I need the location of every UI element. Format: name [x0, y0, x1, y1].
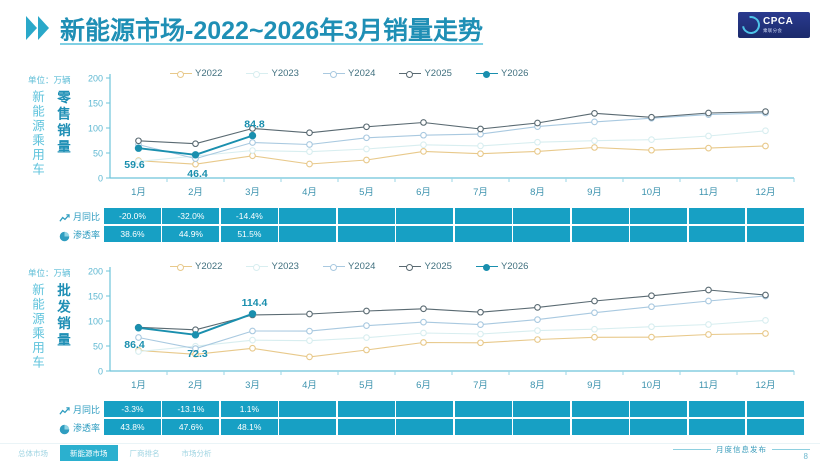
svg-text:4月: 4月 [302, 187, 317, 198]
wholesale-chart: 0501001502001月2月3月4月5月6月7月8月9月10月11月12月8… [78, 259, 804, 399]
table-row-header: 渗透率 [40, 226, 104, 242]
table-cell [338, 401, 395, 417]
pie-chart-icon [59, 422, 70, 433]
svg-text:200: 200 [88, 266, 103, 276]
svg-text:12月: 12月 [755, 187, 775, 198]
pie-chart-icon [59, 229, 70, 240]
table-cell: 43.8% [104, 419, 161, 435]
table-cell: 48.1% [221, 419, 278, 435]
svg-text:46.4: 46.4 [187, 168, 208, 180]
svg-text:8月: 8月 [530, 187, 545, 198]
table-cell [630, 401, 687, 417]
table-row: 渗透率38.6%44.9%51.5% [40, 226, 804, 242]
table-cell [747, 401, 804, 417]
table-cell [396, 401, 453, 417]
svg-text:3月: 3月 [245, 187, 260, 198]
table-cell: -32.0% [162, 208, 219, 224]
table-cell [279, 226, 336, 242]
vehicle-category-label-wholesale: 新能源乘用车 [26, 283, 44, 370]
table-row-label: 渗透率 [73, 421, 100, 434]
svg-text:6月: 6月 [416, 187, 431, 198]
table-cell: -13.1% [162, 401, 219, 417]
table-cell [747, 419, 804, 435]
svg-text:10月: 10月 [641, 380, 661, 391]
svg-text:100: 100 [88, 123, 103, 133]
chevron-double-right-icon [26, 16, 49, 40]
logo-main-text: CPCA [763, 17, 793, 27]
svg-text:1月: 1月 [131, 187, 146, 198]
table-cell [279, 401, 336, 417]
table-cell [689, 226, 746, 242]
table-cell [279, 208, 336, 224]
table-cell: 38.6% [104, 226, 161, 242]
footer-brand: 月度信息发布 [673, 444, 810, 455]
page-title: 新能源市场-2022~2026年3月销量走势 [60, 11, 483, 47]
table-cell [396, 226, 453, 242]
footer-brand-text: 月度信息发布 [716, 444, 767, 455]
svg-text:2月: 2月 [188, 187, 203, 198]
cpca-swirl-icon [738, 12, 763, 37]
cpca-logo: CPCA 乘联分会 [738, 12, 810, 38]
table-cell [747, 226, 804, 242]
table-cell [338, 419, 395, 435]
svg-text:11月: 11月 [699, 380, 718, 391]
svg-text:50: 50 [93, 148, 103, 158]
svg-text:9月: 9月 [587, 187, 602, 198]
retail-chart: 0501001502001月2月3月4月5月6月7月8月9月10月11月12月5… [78, 66, 804, 206]
table-cell [747, 208, 804, 224]
svg-text:150: 150 [88, 291, 103, 301]
footer-tab-4[interactable]: 市场分析 [172, 445, 222, 461]
rule-right-icon [772, 449, 810, 450]
svg-text:7月: 7月 [473, 187, 488, 198]
table-row-header: 月同比 [40, 401, 104, 417]
trend-line-icon [59, 404, 70, 415]
table-cell [513, 226, 570, 242]
table-cell [279, 419, 336, 435]
retail-data-table: 月同比-20.0%-32.0%-14.4%渗透率38.6%44.9%51.5% [40, 208, 804, 244]
svg-text:72.3: 72.3 [187, 348, 208, 360]
logo-sub-text: 乘联分会 [763, 29, 793, 34]
svg-text:5月: 5月 [359, 380, 374, 391]
wholesale-data-table: 月同比-3.3%-13.1%1.1%渗透率43.8%47.6%48.1% [40, 401, 804, 437]
table-cell [513, 401, 570, 417]
footer-tab-3[interactable]: 厂商排名 [120, 445, 170, 461]
table-cell: 44.9% [162, 226, 219, 242]
svg-text:12月: 12月 [755, 380, 775, 391]
table-row-label: 月同比 [73, 210, 100, 223]
svg-text:150: 150 [88, 98, 103, 108]
trend-line-icon [59, 211, 70, 222]
wholesale-panel: 单位：万辆 新能源乘用车 批发销量 Y2022Y2023Y2024Y2025Y2… [0, 255, 820, 445]
table-cell [513, 419, 570, 435]
footer-tab-1[interactable]: 总体市场 [8, 445, 58, 461]
table-row-header: 渗透率 [40, 419, 104, 435]
table-cell: -3.3% [104, 401, 161, 417]
svg-text:8月: 8月 [530, 380, 545, 391]
svg-text:10月: 10月 [641, 187, 661, 198]
page-header: 新能源市场-2022~2026年3月销量走势 CPCA 乘联分会 [0, 0, 820, 52]
table-cell [513, 208, 570, 224]
table-row-label: 渗透率 [73, 228, 100, 241]
unit-label-wholesale: 单位：万辆 [28, 267, 71, 279]
svg-text:0: 0 [98, 366, 103, 376]
slide-page: 新能源市场-2022~2026年3月销量走势 CPCA 乘联分会 单位：万辆 新… [0, 0, 820, 462]
svg-text:5月: 5月 [359, 187, 374, 198]
vehicle-category-label-retail: 新能源乘用车 [26, 90, 44, 177]
table-row: 月同比-3.3%-13.1%1.1% [40, 401, 804, 417]
metric-kind-label-wholesale: 批发销量 [52, 283, 70, 349]
footer-tab-2[interactable]: 新能源市场 [60, 445, 118, 461]
table-cell [572, 226, 629, 242]
svg-text:2月: 2月 [188, 380, 203, 391]
table-cell: 47.6% [162, 419, 219, 435]
table-cell [630, 226, 687, 242]
svg-text:86.4: 86.4 [124, 339, 145, 351]
svg-text:0: 0 [98, 173, 103, 183]
svg-text:100: 100 [88, 316, 103, 326]
unit-label-retail: 单位：万辆 [28, 74, 71, 86]
retail-panel: 单位：万辆 新能源乘用车 零售销量 Y2022Y2023Y2024Y2025Y2… [0, 62, 820, 252]
table-cell [455, 208, 512, 224]
table-cell: 1.1% [221, 401, 278, 417]
table-row: 渗透率43.8%47.6%48.1% [40, 419, 804, 435]
table-cell [455, 401, 512, 417]
svg-text:6月: 6月 [416, 380, 431, 391]
svg-text:11月: 11月 [699, 187, 718, 198]
rule-left-icon [673, 449, 711, 450]
table-row-header: 月同比 [40, 208, 104, 224]
table-cell: -20.0% [104, 208, 161, 224]
svg-text:84.8: 84.8 [244, 119, 265, 131]
table-cell [455, 419, 512, 435]
table-cell [338, 208, 395, 224]
table-cell [572, 401, 629, 417]
table-cell [689, 419, 746, 435]
svg-text:7月: 7月 [473, 380, 488, 391]
svg-text:114.4: 114.4 [242, 297, 268, 309]
svg-text:59.6: 59.6 [124, 159, 145, 171]
table-cell [689, 208, 746, 224]
page-number: 8 [804, 452, 808, 461]
table-row: 月同比-20.0%-32.0%-14.4% [40, 208, 804, 224]
table-cell: 51.5% [221, 226, 278, 242]
svg-text:9月: 9月 [587, 380, 602, 391]
table-cell [630, 208, 687, 224]
svg-text:3月: 3月 [245, 380, 260, 391]
svg-text:200: 200 [88, 73, 103, 83]
page-footer: 总体市场新能源市场厂商排名市场分析 月度信息发布 8 [0, 443, 820, 462]
table-cell [455, 226, 512, 242]
footer-nav-tabs: 总体市场新能源市场厂商排名市场分析 [8, 445, 222, 461]
table-cell: -14.4% [221, 208, 278, 224]
svg-text:4月: 4月 [302, 380, 317, 391]
table-cell [396, 419, 453, 435]
table-row-label: 月同比 [73, 403, 100, 416]
table-cell [338, 226, 395, 242]
svg-text:1月: 1月 [131, 380, 146, 391]
svg-text:50: 50 [93, 341, 103, 351]
table-cell [630, 419, 687, 435]
table-cell [689, 401, 746, 417]
table-cell [396, 208, 453, 224]
metric-kind-label-retail: 零售销量 [52, 90, 70, 156]
table-cell [572, 208, 629, 224]
table-cell [572, 419, 629, 435]
